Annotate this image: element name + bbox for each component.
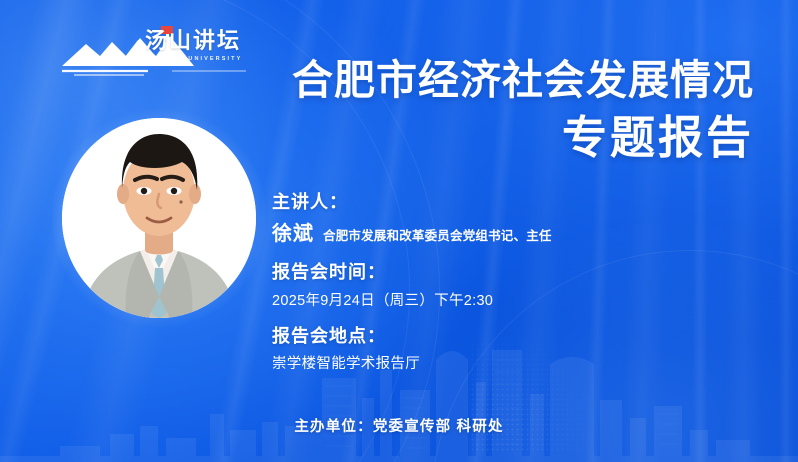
footer: 主办单位：党委宣传部 科研处	[0, 415, 798, 436]
place-value: 崇学楼智能学术报告厅	[272, 352, 692, 373]
event-poster: 汤山讲坛 CHAOHU UNIVERSITY	[0, 0, 798, 462]
speaker-name: 徐斌	[272, 217, 314, 246]
logo-chinese-name: 汤山讲坛	[145, 30, 241, 52]
headline-line-1: 合肥市经济社会发展情况	[194, 58, 754, 102]
time-label: 报告会时间：	[272, 260, 692, 284]
event-details: 主讲人： 徐斌 合肥市发展和改革委员会党组书记、主任 报告会时间： 2025年9…	[272, 190, 692, 373]
organizer-text: 主办单位：党委宣传部 科研处	[294, 419, 503, 435]
speaker-label: 主讲人：	[272, 190, 692, 214]
speaker-title: 合肥市发展和改革委员会党组书记、主任	[323, 225, 552, 244]
time-value: 2025年9月24日（周三）下午2:30	[272, 289, 692, 310]
speaker-row: 徐斌 合肥市发展和改革委员会党组书记、主任	[272, 217, 692, 246]
headline-line-2: 专题报告	[194, 114, 754, 163]
page-title: 合肥市经济社会发展情况 专题报告	[194, 58, 754, 163]
place-label: 报告会地点：	[272, 324, 692, 348]
